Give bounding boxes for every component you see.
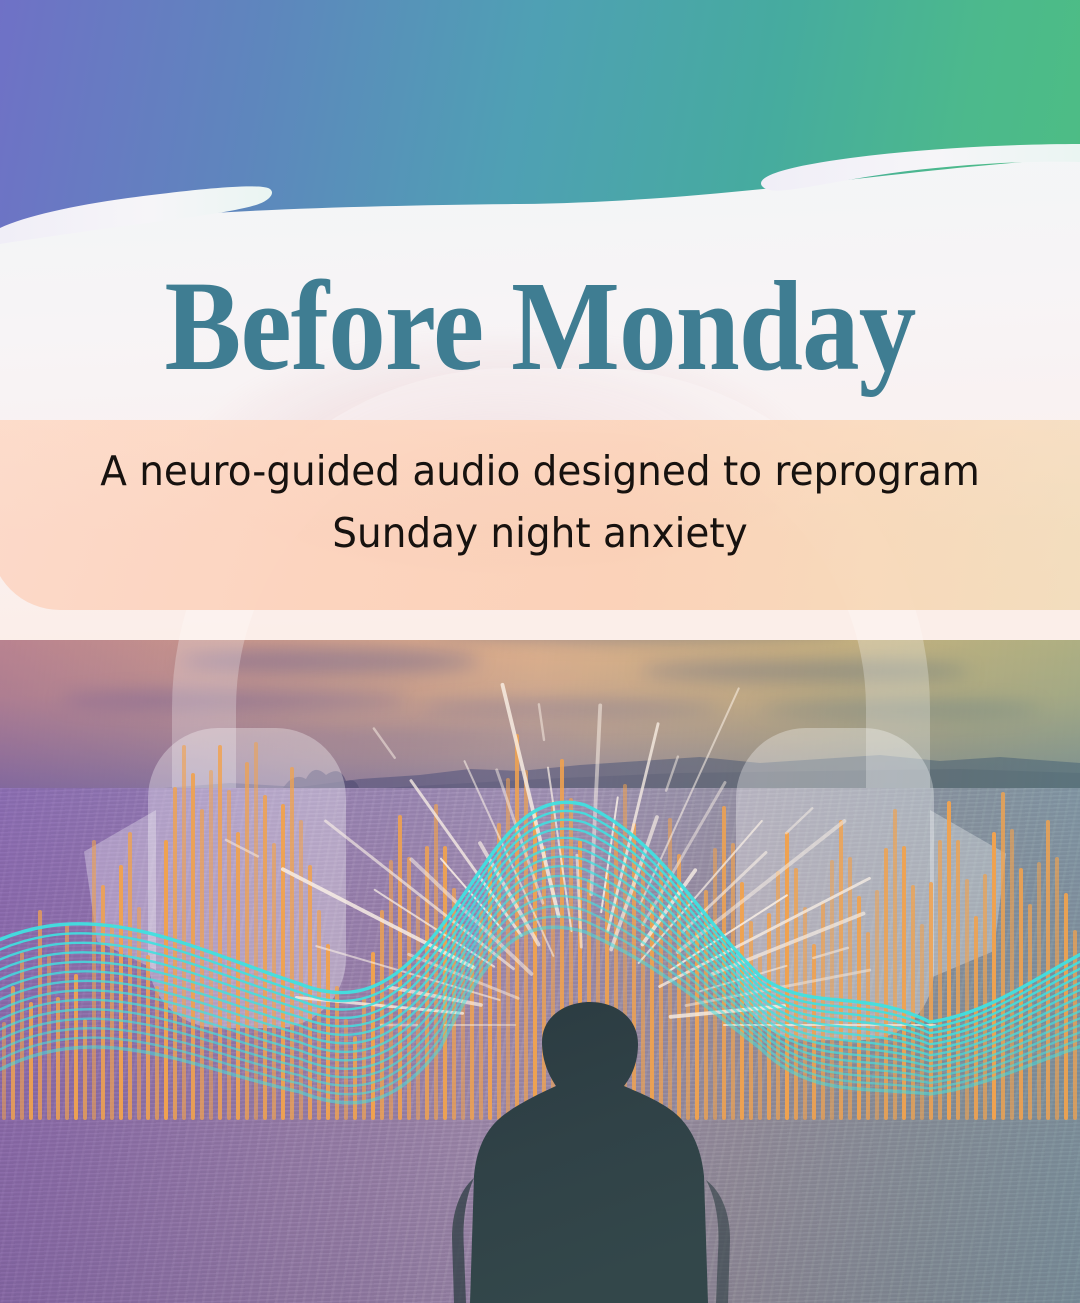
page-title: Before Monday [54, 262, 1026, 390]
page-subtitle: A neuro-guided audio designed to reprogr… [78, 440, 1001, 565]
poster-canvas: Before Monday A neuro-guided audio desig… [0, 0, 1080, 1303]
seated-person-silhouette [430, 1000, 750, 1303]
subtitle-line-2: Sunday night anxiety [78, 502, 1001, 564]
subtitle-line-1: A neuro-guided audio designed to reprogr… [78, 440, 1001, 502]
